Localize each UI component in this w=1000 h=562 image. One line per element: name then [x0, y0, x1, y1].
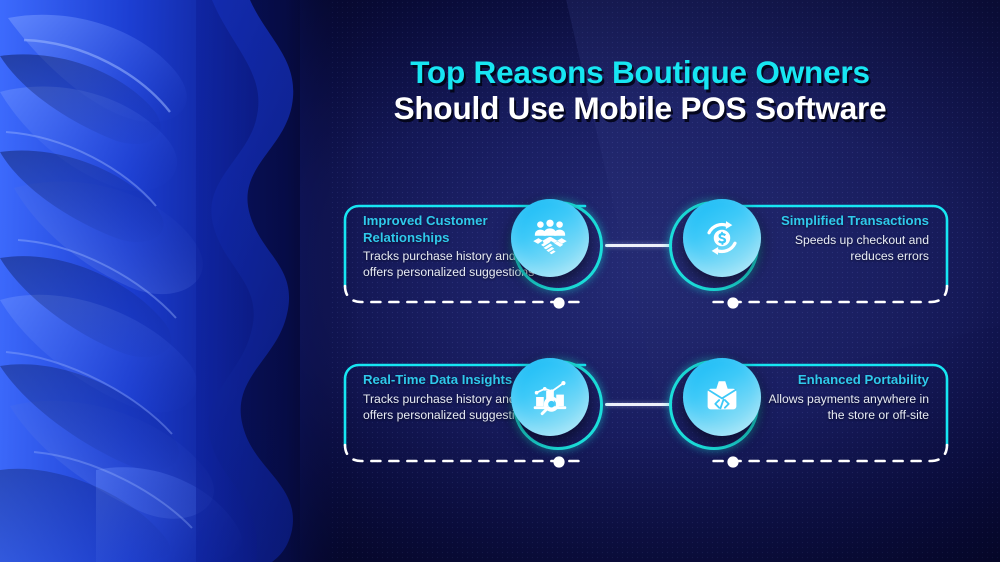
infographic-canvas: Top Reasons Boutique Owners Should Use M… — [0, 0, 1000, 562]
handshake-icon-badge[interactable] — [511, 199, 603, 291]
title-line-1: Top Reasons Boutique Owners — [330, 56, 950, 88]
money-refresh-icon — [699, 215, 745, 261]
handshake-icon — [527, 215, 573, 261]
title-line-2: Should Use Mobile POS Software — [330, 92, 950, 124]
card-heading: Simplified Transactions — [749, 213, 929, 230]
card-end-dot — [725, 454, 741, 470]
silk-fabric-image — [0, 0, 360, 562]
badge-disc — [683, 358, 761, 436]
card-body-text: Speeds up checkout and reduces errors — [749, 232, 929, 264]
card-end-dot — [725, 295, 741, 311]
connector-line-row-1 — [605, 244, 671, 247]
briefcase-pos-icon-badge[interactable] — [669, 358, 761, 450]
card-end-dot — [551, 295, 567, 311]
card-text-block: Enhanced Portability Allows payments any… — [749, 372, 929, 423]
badge-disc — [683, 199, 761, 277]
badge-disc — [511, 358, 589, 436]
briefcase-pos-icon — [699, 374, 745, 420]
card-heading: Enhanced Portability — [749, 372, 929, 389]
connector-line-row-2 — [605, 403, 671, 406]
card-body-text: Allows payments anywhere in the store or… — [749, 391, 929, 423]
page-title: Top Reasons Boutique Owners Should Use M… — [330, 56, 950, 125]
card-text-block: Simplified Transactions Speeds up checko… — [749, 213, 929, 264]
chart-search-icon — [527, 374, 573, 420]
badge-disc — [511, 199, 589, 277]
chart-search-icon-badge[interactable] — [511, 358, 603, 450]
money-refresh-icon-badge[interactable] — [669, 199, 761, 291]
card-end-dot — [551, 454, 567, 470]
